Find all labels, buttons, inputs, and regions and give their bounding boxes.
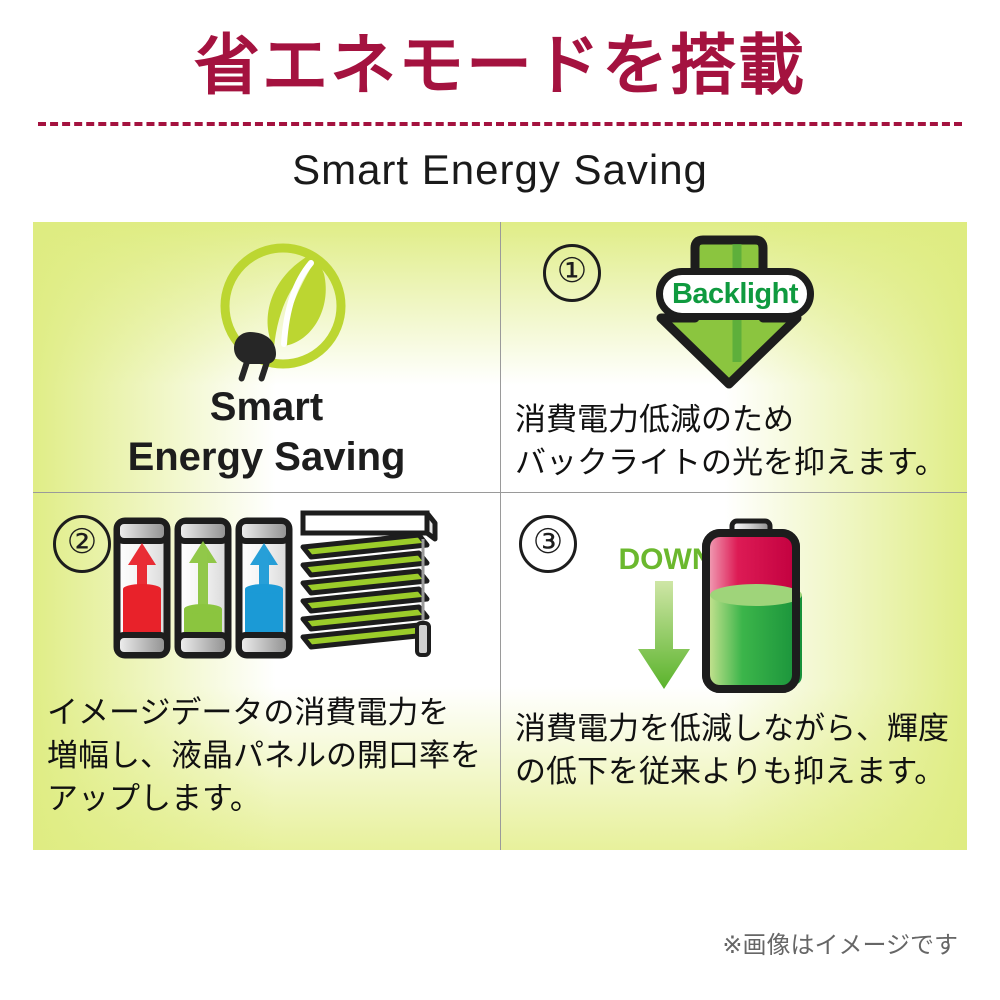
window-blind-icon <box>291 505 441 663</box>
leaf-plug-icon <box>208 236 358 386</box>
image-disclaimer: ※画像はイメージです <box>722 925 958 960</box>
green-down-arrow-icon: Backlight <box>639 232 819 390</box>
step-number-2: ② <box>53 515 111 573</box>
panel-battery-caption: 消費電力を低減しながら、輝度 の低下を従来よりも抑えます。 <box>515 707 967 793</box>
page-subtitle: Smart Energy Saving <box>0 142 1000 198</box>
panel-battery: ③ DOWN <box>501 493 967 850</box>
battery-icon <box>696 517 806 695</box>
panel-logo: Smart Energy Saving <box>33 222 500 492</box>
feature-grid: Smart Energy Saving ① Backlight 消費電力低減のた… <box>33 222 967 850</box>
down-arrow-icon <box>634 581 694 691</box>
step-number-3: ③ <box>519 515 577 573</box>
panel-aperture: ② <box>33 493 500 850</box>
logo-wordmark: Smart Energy Saving <box>33 382 500 482</box>
header: 省エネモードを搭載 Smart Energy Saving <box>0 0 1000 150</box>
step-number-1: ① <box>543 244 601 302</box>
panel-backlight: ① Backlight 消費電力低減のため バックライトの光を抑えます。 <box>501 222 967 492</box>
panel-aperture-caption: イメージデータの消費電力を 増幅し、液晶パネルの開口率を アップします。 <box>47 691 502 820</box>
rgb-cylinders-icon <box>113 513 293 663</box>
dashed-divider <box>38 122 962 126</box>
backlight-badge-label: Backlight <box>663 275 807 313</box>
panel-backlight-caption: 消費電力低減のため バックライトの光を抑えます。 <box>515 398 965 484</box>
backlight-badge: Backlight <box>656 268 814 320</box>
page-title: 省エネモードを搭載 <box>0 22 1000 108</box>
